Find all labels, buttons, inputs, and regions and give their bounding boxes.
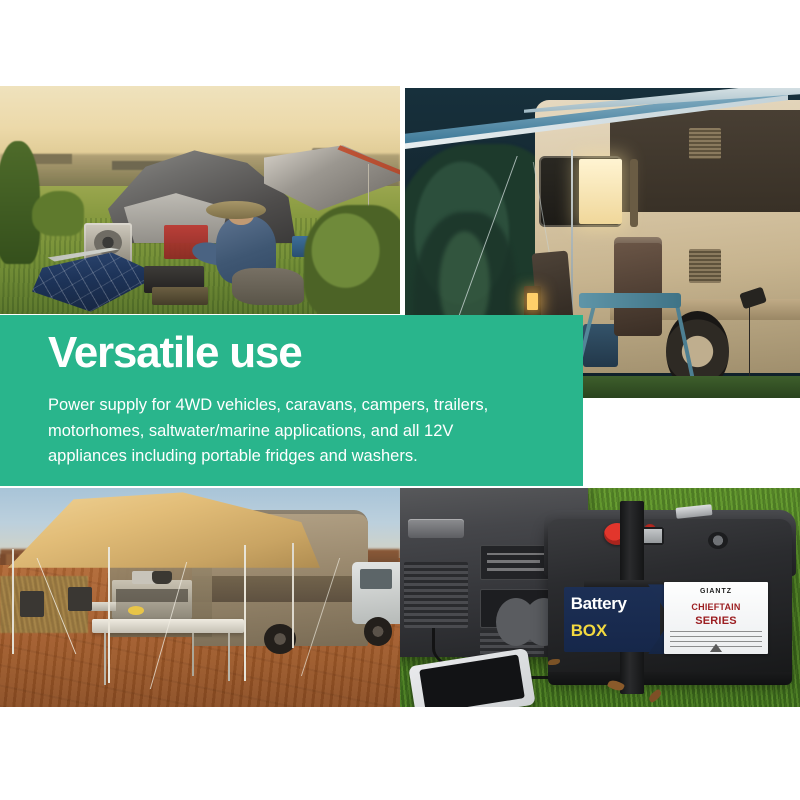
panel-outback-camper <box>0 488 400 707</box>
caravan-vent <box>689 249 721 283</box>
fridge-vent-grille <box>404 562 468 628</box>
callout-heading: Versatile use <box>48 331 301 375</box>
table-leg <box>192 633 194 677</box>
callout-body-line-1: Power supply for 4WD vehicles, caravans,… <box>48 393 558 419</box>
ute-window <box>360 569 392 589</box>
battery-case <box>152 287 208 305</box>
person-legs <box>232 268 304 304</box>
giantz-brand-label: GIANTZ <box>664 588 768 595</box>
chair-seat-bar <box>579 293 682 309</box>
panel-fridge-battery-box: Battery BOX GIANTZ CHIEFTAIN SERIES <box>400 488 800 707</box>
callout-body-line-3: appliances including portable fridges an… <box>48 444 558 470</box>
caravan-door-handle <box>630 159 638 227</box>
battery-box-base <box>548 672 792 685</box>
battery-box-label-line1: Battery <box>571 594 627 614</box>
series-title-line1: CHIEFTAIN <box>664 602 768 612</box>
chair-frame <box>586 299 693 377</box>
ute-wheel <box>364 617 392 645</box>
series-title-line2: SERIES <box>664 615 768 627</box>
battery-box-name-plate: Battery BOX <box>564 587 660 653</box>
lantern-flame-glow <box>527 293 537 310</box>
battery-box-label-line2: BOX <box>571 621 607 641</box>
fridge-handle <box>408 519 464 539</box>
camp-chair <box>68 587 92 611</box>
chieftain-series-spec-card: GIANTZ CHIEFTAIN SERIES <box>664 582 768 654</box>
panel-camping-solar <box>0 86 400 314</box>
ground-lamp-pole <box>749 302 751 376</box>
caravan-vent <box>689 128 721 159</box>
versatile-use-callout: Versatile use Power supply for 4WD vehic… <box>0 315 583 486</box>
collage-stage: Battery BOX GIANTZ CHIEFTAIN SERIES Vers… <box>0 0 800 800</box>
shrub-icon <box>32 191 84 237</box>
callout-body: Power supply for 4WD vehicles, caravans,… <box>48 393 558 470</box>
caravan-upper-panel <box>610 110 800 212</box>
callout-body-line-2: motorhomes, saltwater/marine application… <box>48 419 558 445</box>
foreground-bush <box>304 205 400 314</box>
